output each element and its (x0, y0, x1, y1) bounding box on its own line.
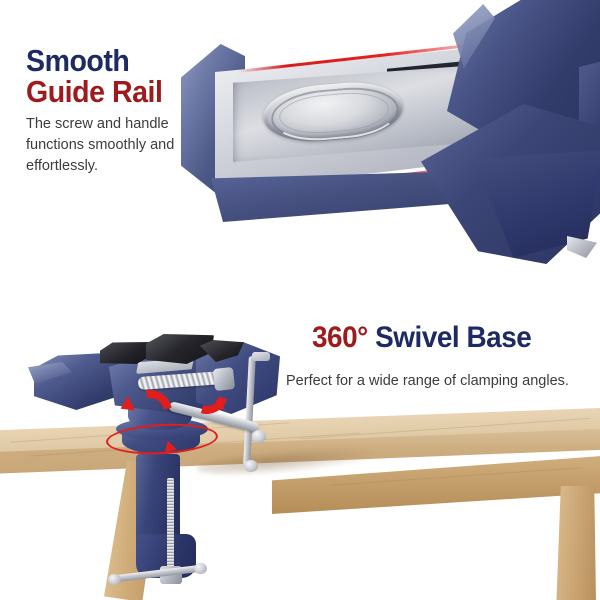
chrome-clamp-screw (167, 478, 174, 574)
swivel-base-heading: 360° Swivel Base (312, 323, 531, 354)
vise-rod-knob (244, 460, 258, 472)
clamp-handle-knob-left (108, 574, 121, 585)
heading-line-1: Smooth (26, 45, 162, 77)
vise-rod-top-cap (252, 352, 270, 361)
vise-steel-tip (567, 236, 597, 258)
swivel-handle-knob (252, 430, 266, 443)
heading-swivel-base: Swivel Base (375, 321, 531, 354)
vise-body-nub (579, 60, 600, 130)
smooth-guide-rail-description: The screw and handle functions smoothly … (26, 114, 231, 177)
wooden-table-leg-right (552, 486, 596, 600)
description-line-3: effortlessly. (26, 156, 231, 177)
description-line-1: The screw and handle (26, 114, 231, 135)
description-line-2: functions smoothly and (26, 135, 231, 156)
swivel-base-description: Perfect for a wide range of clamping ang… (286, 373, 569, 389)
heading-line-2: Guide Rail (26, 76, 162, 108)
product-infographic: Smooth Guide Rail The screw and handle f… (0, 0, 600, 600)
clamp-handle-knob-right (194, 563, 207, 574)
heading-degrees: 360° (312, 321, 368, 354)
guide-rail-closeup-image (175, 0, 600, 285)
smooth-guide-rail-heading: Smooth Guide Rail (26, 45, 162, 108)
